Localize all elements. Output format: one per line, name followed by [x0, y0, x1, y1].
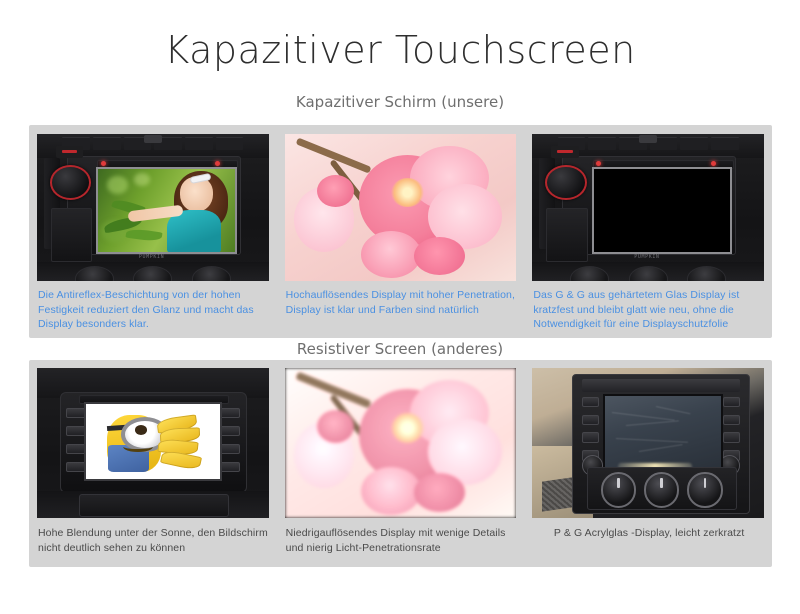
dashboard-photo: [532, 368, 764, 518]
blossom-photo-blurry: [285, 368, 517, 518]
climate-panel: [587, 467, 737, 510]
pink-blossom-low-resolution: [285, 368, 517, 518]
minion-cartoon-photo: [86, 404, 220, 479]
brand-logo: PUMPKIN: [634, 254, 659, 260]
climate-knobs: [597, 482, 727, 508]
capacitive-caption-2: Hochauflösendes Display mit hoher Penetr…: [286, 288, 518, 317]
climate-dials: [560, 266, 736, 281]
capacitive-cell-row: PUMPKIN Die Antireflex-Beschichtung von …: [29, 125, 772, 338]
page-title: Kapazitiver Touchscreen: [0, 28, 800, 72]
resistive-caption-2: Niedrigauflösendes Display mit wenige De…: [286, 526, 518, 555]
display-screen: [98, 169, 235, 251]
section-heading-capacitive: Kapazitiver Schirm (unsere): [0, 93, 800, 111]
resistive-cell-2: Niedrigauflösendes Display mit wenige De…: [277, 360, 525, 567]
power-button-icon: [56, 146, 84, 158]
resistive-cell-3: P & G Acrylglas -Display, leicht zerkrat…: [524, 360, 772, 567]
pink-blossom-high-resolution: [285, 134, 517, 281]
climate-panel: [79, 494, 229, 517]
capacitive-cell-3: PUMPKIN Das G & G aus gehärtetem Glas Di…: [524, 125, 772, 338]
volume-knob: [545, 165, 587, 200]
head-unit: [572, 374, 750, 514]
right-button-column: [722, 393, 740, 465]
car-head-unit-screen-off: PUMPKIN: [532, 134, 764, 281]
right-button-column: [218, 404, 241, 476]
power-button-icon: [551, 146, 579, 158]
car-head-unit-minion-cartoon: [37, 368, 269, 518]
dash-badge: [639, 135, 658, 142]
climate-dials: [65, 266, 241, 281]
display-screen-off: [594, 169, 731, 251]
capacitive-caption-3: Das G & G aus gehärtetem Glas Display is…: [533, 288, 765, 332]
head-unit-art-vw: [37, 368, 269, 518]
brand-logo: PUMPKIN: [139, 254, 164, 260]
head-unit-art: PUMPKIN: [532, 134, 764, 281]
display-screen: [86, 404, 220, 479]
dash-badge: [144, 135, 163, 142]
slide-root: Kapazitiver Touchscreen Kapazitiver Schi…: [0, 0, 800, 614]
disc-slot: [51, 208, 92, 263]
acrylic-display-screen: [603, 394, 723, 470]
capacitive-cell-2: Hochauflösendes Display mit hoher Penetr…: [277, 125, 525, 338]
girl-dress: [167, 210, 222, 251]
left-button-column: [65, 404, 88, 476]
disc-slot: [546, 208, 587, 263]
resistive-caption-1: Hohe Blendung unter der Sonne, den Bilds…: [38, 526, 270, 555]
blossom-photo-sharp: [285, 134, 517, 281]
girl-in-garden-photo: [98, 169, 235, 251]
banana-bunch: [156, 416, 210, 472]
minion-mouth: [123, 442, 153, 453]
resistive-caption-3: P & G Acrylglas -Display, leicht zerkrat…: [533, 526, 765, 541]
unit-top-row: [582, 379, 740, 391]
car-dashboard-acrylic-scratched: [532, 368, 764, 518]
head-unit-art: PUMPKIN: [37, 134, 269, 281]
capacitive-panel: PUMPKIN Die Antireflex-Beschichtung von …: [29, 125, 772, 338]
car-head-unit-girl-photo: PUMPKIN: [37, 134, 269, 281]
unit-top-strip: [79, 395, 229, 404]
capacitive-cell-1: PUMPKIN Die Antireflex-Beschichtung von …: [29, 125, 277, 338]
resistive-cell-1: Hohe Blendung unter der Sonne, den Bilds…: [29, 360, 277, 567]
capacitive-caption-1: Die Antireflex-Beschichtung von der hohe…: [38, 288, 270, 332]
resistive-cell-row: Hohe Blendung unter der Sonne, den Bilds…: [29, 360, 772, 567]
section-heading-resistive: Resistiver Screen (anderes): [0, 340, 800, 358]
left-button-column: [582, 393, 600, 465]
resistive-panel: Hohe Blendung unter der Sonne, den Bilds…: [29, 360, 772, 567]
